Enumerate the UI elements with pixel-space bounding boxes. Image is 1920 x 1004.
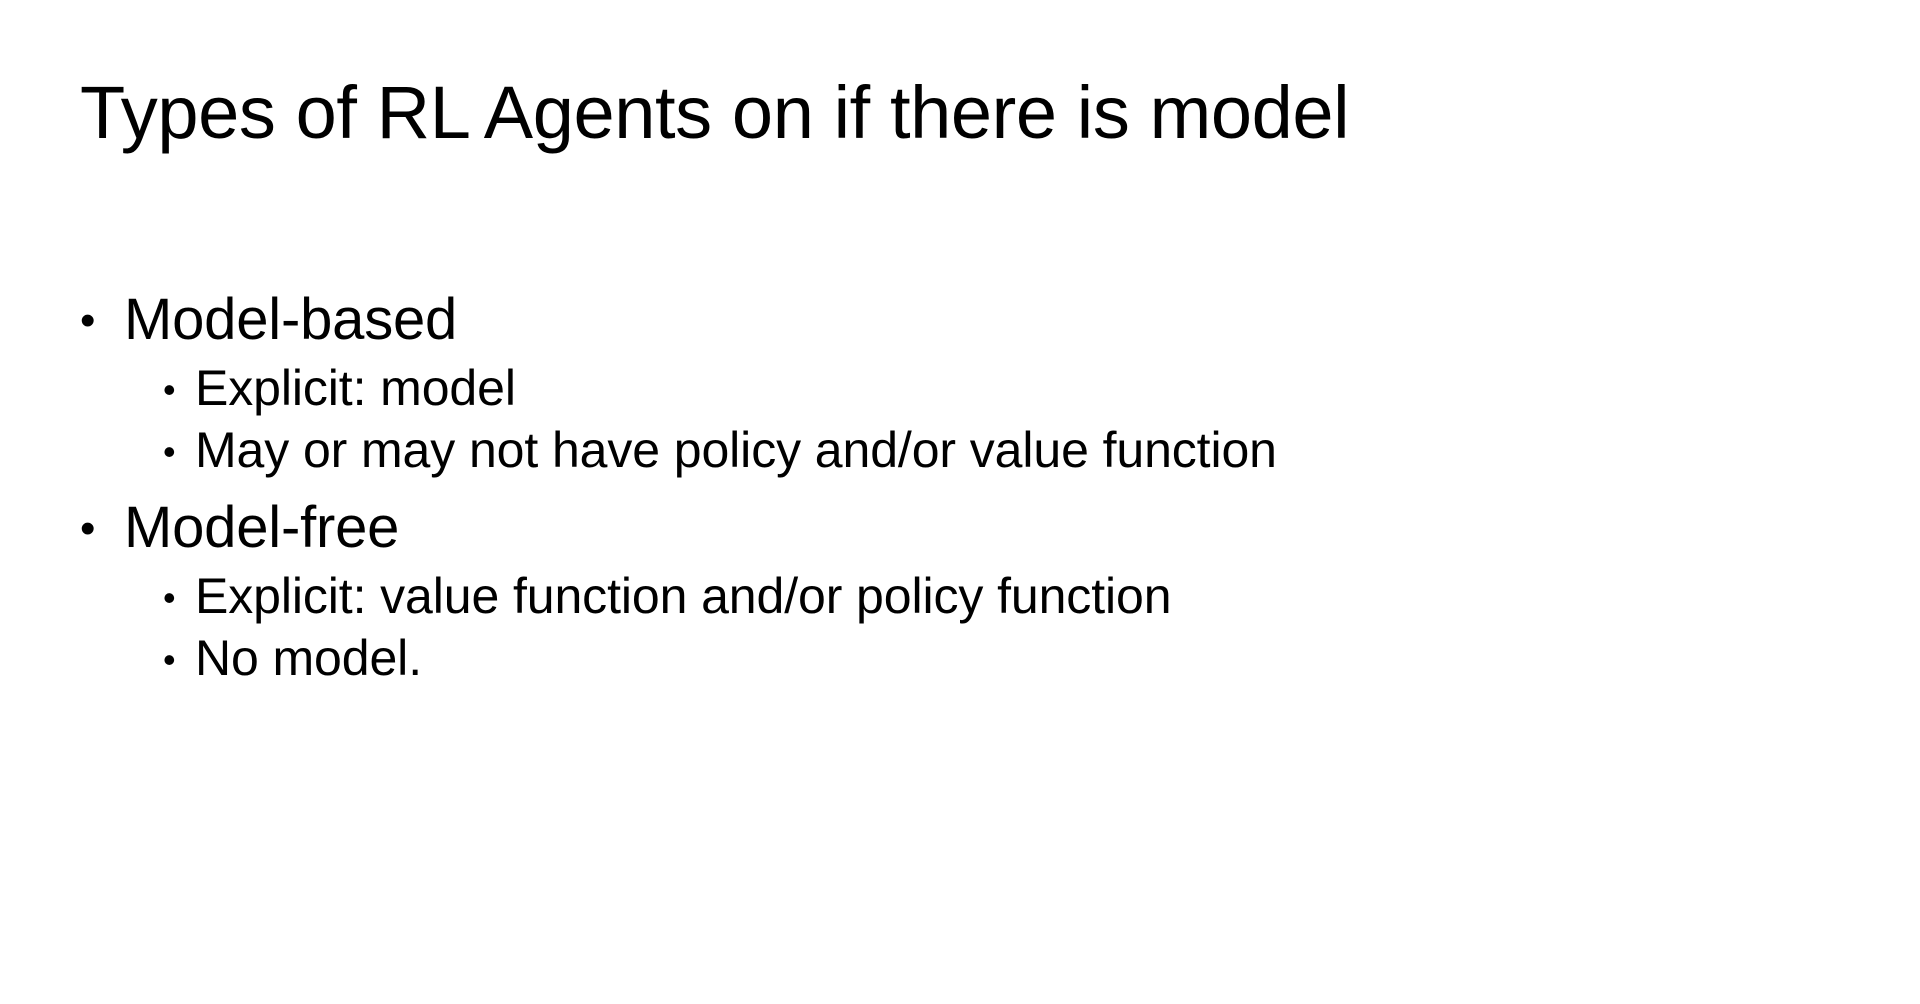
- bullet-item-level2: • May or may not have policy and/or valu…: [80, 420, 1840, 480]
- bullet-dot-icon: •: [163, 434, 195, 470]
- bullet-dot-icon: •: [80, 299, 124, 343]
- bullet-item-level2: • Explicit: value function and/or policy…: [80, 566, 1840, 626]
- bullet-dot-icon: •: [163, 372, 195, 408]
- slide-canvas: Types of RL Agents on if there is model …: [0, 0, 1920, 1004]
- bullet-group-spacer: [80, 482, 1840, 494]
- bullet-text: Explicit: model: [195, 358, 516, 418]
- slide-title: Types of RL Agents on if there is model: [80, 74, 1800, 152]
- bullet-dot-icon: •: [163, 642, 195, 678]
- bullet-dot-icon: •: [163, 580, 195, 616]
- bullet-text: Model-free: [124, 494, 399, 562]
- bullet-dot-icon: •: [80, 507, 124, 551]
- slide-body-list: • Model-based • Explicit: model • May or…: [80, 286, 1840, 690]
- bullet-text: May or may not have policy and/or value …: [195, 420, 1277, 480]
- bullet-item-level2: • Explicit: model: [80, 358, 1840, 418]
- bullet-text: No model.: [195, 628, 422, 688]
- bullet-text: Model-based: [124, 286, 457, 354]
- bullet-text: Explicit: value function and/or policy f…: [195, 566, 1171, 626]
- bullet-item-level2: • No model.: [80, 628, 1840, 688]
- bullet-item-level1: • Model-based: [80, 286, 1840, 354]
- bullet-item-level1: • Model-free: [80, 494, 1840, 562]
